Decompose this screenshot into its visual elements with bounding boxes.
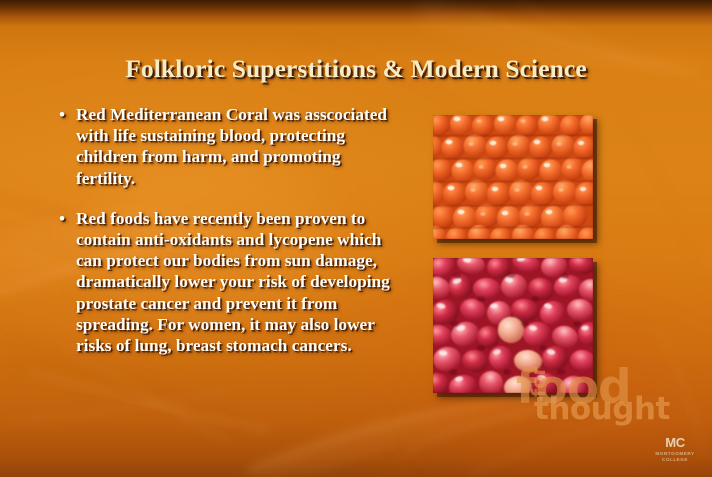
bullet-marker-icon: • xyxy=(59,104,65,125)
mc-name-line-2: COLLEGE xyxy=(647,457,703,463)
presentation-slide: Folkloric Superstitions & Modern Science… xyxy=(0,0,712,477)
pomegranate-seeds-photo xyxy=(433,258,593,393)
bullet-item-red-foods: • Red foods have recently been proven to… xyxy=(58,208,398,356)
slide-title: Folkloric Superstitions & Modern Science xyxy=(0,54,712,84)
montgomery-college-logo: MC MONTGOMERY COLLEGE xyxy=(647,436,703,464)
mc-name-line-1: MONTGOMERY xyxy=(647,451,703,457)
bullet-item-coral: • Red Mediterranean Coral was asscociate… xyxy=(58,104,398,189)
slide-body: • Red Mediterranean Coral was asscociate… xyxy=(58,104,398,356)
bullet-text: Red Mediterranean Coral was asscociated … xyxy=(76,104,398,189)
mc-monogram: MC xyxy=(647,436,703,449)
bullet-marker-icon: • xyxy=(59,208,65,229)
watermark-word-thought: thought xyxy=(534,394,670,425)
bullet-text: Red foods have recently been proven to c… xyxy=(76,208,398,356)
orange-coral-beads-photo xyxy=(433,115,593,239)
